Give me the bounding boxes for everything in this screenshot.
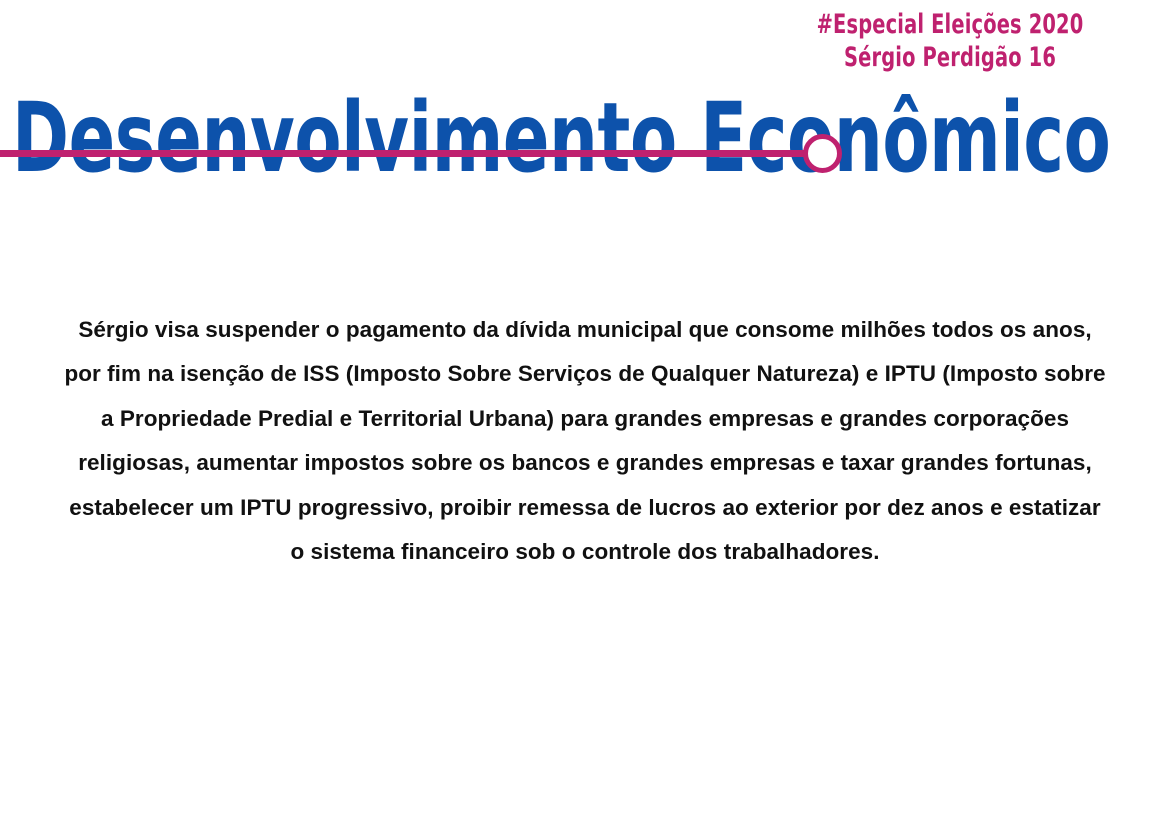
campaign-header: #Especial Eleições 2020 Sérgio Perdigão …: [782, 8, 1118, 74]
divider-line: [0, 150, 812, 157]
candidate-name-number: Sérgio Perdigão 16: [782, 41, 1118, 74]
title-divider: [0, 132, 845, 176]
slide-canvas: #Especial Eleições 2020 Sérgio Perdigão …: [0, 0, 1170, 827]
circle-endpoint-icon: [803, 134, 842, 173]
campaign-hashtag: #Especial Eleições 2020: [782, 8, 1118, 41]
body-paragraph: Sérgio visa suspender o pagamento da dív…: [60, 308, 1110, 575]
